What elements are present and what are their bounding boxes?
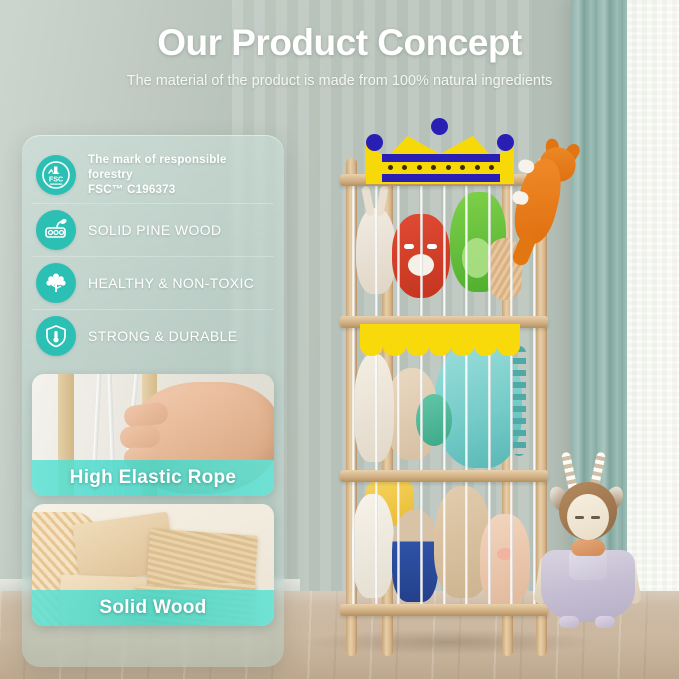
solid-wood-photo: Solid Wood (32, 504, 274, 626)
crown-stripe-lower (382, 174, 500, 182)
shield-durable-icon (36, 316, 76, 356)
page-title: Our Product Concept (0, 22, 679, 64)
crown-ball-center (431, 118, 448, 135)
feature-label-pine-wood: SOLID PINE WOOD (88, 222, 222, 240)
crown-ball-left (366, 134, 383, 151)
deer-eye-right (591, 516, 600, 519)
feature-list: FSC The mark of responsible forestry FSC… (22, 135, 284, 366)
feature-item-pine-wood: SOLID PINE WOOD (32, 204, 274, 257)
feature-panel: FSC The mark of responsible forestry FSC… (22, 135, 284, 667)
feature-item-fsc: FSC The mark of responsible forestry FSC… (32, 147, 274, 204)
deer-shoe-left (559, 616, 579, 628)
elastic-rails-lower (352, 476, 536, 608)
feature-label-durable: STRONG & DURABLE (88, 328, 238, 346)
deer-plush-doll (533, 452, 643, 637)
elastic-rope-label: High Elastic Rope (32, 460, 274, 496)
deer-face (567, 494, 609, 540)
pine-wood-icon (36, 210, 76, 250)
svg-text:FSC: FSC (49, 175, 63, 184)
fsc-line-2: FSC™ C196373 (88, 183, 175, 196)
deer-eye-left (575, 516, 584, 519)
page-subtitle: The material of the product is made from… (0, 73, 679, 89)
rack-shelf-lower (340, 470, 548, 482)
toy-storage-organizer (330, 118, 560, 658)
deer-bow (571, 540, 605, 556)
crown-jewel-dots (388, 162, 494, 172)
yellow-scalloped-awning (360, 324, 520, 356)
fsc-line-1: The mark of responsible forestry (88, 153, 227, 181)
feature-label-fsc: The mark of responsible forestry FSC™ C1… (88, 153, 270, 197)
feature-label-healthy: HEALTHY & NON-TOXIC (88, 275, 254, 293)
feature-item-durable: STRONG & DURABLE (32, 310, 274, 362)
feature-item-healthy: HEALTHY & NON-TOXIC (32, 257, 274, 310)
solid-wood-label: Solid Wood (32, 590, 274, 626)
crown-ball-right (497, 134, 514, 151)
fsc-certification-icon: FSC (36, 155, 76, 195)
header: Our Product Concept The material of the … (0, 22, 679, 89)
crown-stripe-upper (382, 154, 500, 162)
tree-healthy-icon (36, 263, 76, 303)
rack-shelf-bottom (340, 604, 548, 616)
deer-shoe-right (595, 616, 615, 628)
elastic-rope-photo: High Elastic Rope (32, 374, 274, 496)
crown-topper (360, 118, 520, 184)
